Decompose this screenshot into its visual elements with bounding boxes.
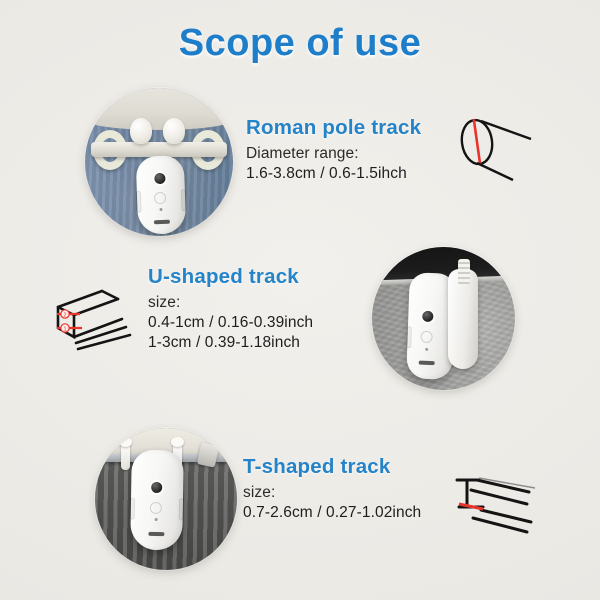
u-shaped-value-2: 1-3cm / 0.39-1.18inch	[148, 334, 313, 352]
device-slot	[148, 532, 164, 536]
roman-pole-sub-label: Diameter range:	[246, 145, 421, 163]
infographic-page: Scope of use Roman pole track Diameter r…	[0, 0, 600, 600]
device-side-rail-left	[406, 326, 412, 348]
u-shaped-photo	[372, 247, 515, 390]
device-button-icon	[420, 331, 432, 343]
device-button-icon	[150, 502, 162, 514]
t-shaped-hook-left	[121, 442, 130, 470]
t-shaped-heading: T-shaped track	[243, 455, 421, 479]
t-top-edge-front	[471, 490, 527, 504]
u-shaped-hook	[458, 259, 470, 285]
u-rail-slot-edge-2	[76, 327, 126, 343]
device-lens-icon	[151, 482, 162, 493]
device-slot	[154, 220, 170, 225]
u-rail-top-right	[102, 291, 118, 299]
device-indicator-dot	[155, 518, 158, 521]
device-indicator-dot	[159, 208, 162, 211]
t-shaped-diagram	[443, 460, 555, 540]
t-shaped-value-1: 0.7-2.6cm / 0.27-1.02inch	[243, 504, 421, 522]
t-bottom-edge-1	[481, 510, 531, 522]
t-shaped-sub-label: size:	[243, 484, 421, 502]
u-marker-label-1: 1	[64, 326, 67, 332]
roman-pole-heading: Roman pole track	[246, 116, 421, 140]
roman-pole-knob-right	[163, 118, 185, 144]
curtain-robot-device	[136, 155, 187, 235]
u-shaped-text-block: U-shaped track size: 0.4-1cm / 0.16-0.39…	[148, 265, 313, 352]
roman-pole-knob-left	[130, 118, 152, 144]
device-indicator-dot	[425, 348, 428, 351]
roman-pole-rod	[91, 142, 227, 157]
u-rail-top-back	[58, 291, 102, 307]
device-side-rail-left	[136, 191, 142, 213]
device-lens-icon	[422, 311, 433, 322]
u-shaped-value-1: 0.4-1cm / 0.16-0.39inch	[148, 314, 313, 332]
u-shaped-diagram: 2 1	[52, 283, 152, 355]
u-rail-slot-edge-3	[78, 335, 130, 349]
pole-bottom-edge	[477, 163, 513, 180]
device-side-rail-right	[179, 498, 184, 520]
u-shaped-sub-label: size:	[148, 294, 313, 312]
curtain-robot-device	[130, 450, 184, 551]
page-title: Scope of use	[0, 22, 600, 65]
roman-pole-wall	[85, 88, 233, 130]
u-rail-top-front	[74, 299, 118, 315]
device-side-rail-right	[181, 189, 187, 211]
device-slot	[419, 361, 435, 366]
t-shaped-text-block: T-shaped track size: 0.7-2.6cm / 0.27-1.…	[243, 455, 421, 522]
device-lens-icon	[154, 173, 165, 184]
device-side-rail-left	[130, 498, 135, 520]
roman-pole-value-1: 1.6-3.8cm / 0.6-1.5ihch	[246, 165, 421, 183]
pole-diameter-marker	[474, 119, 480, 165]
device-button-icon	[154, 192, 166, 204]
roman-pole-text-block: Roman pole track Diameter range: 1.6-3.8…	[246, 116, 421, 183]
t-shaped-photo	[95, 428, 237, 570]
roman-pole-diagram	[455, 108, 550, 186]
u-marker-label-2: 2	[64, 312, 67, 318]
roman-pole-photo	[85, 88, 233, 236]
u-shaped-heading: U-shaped track	[148, 265, 313, 289]
